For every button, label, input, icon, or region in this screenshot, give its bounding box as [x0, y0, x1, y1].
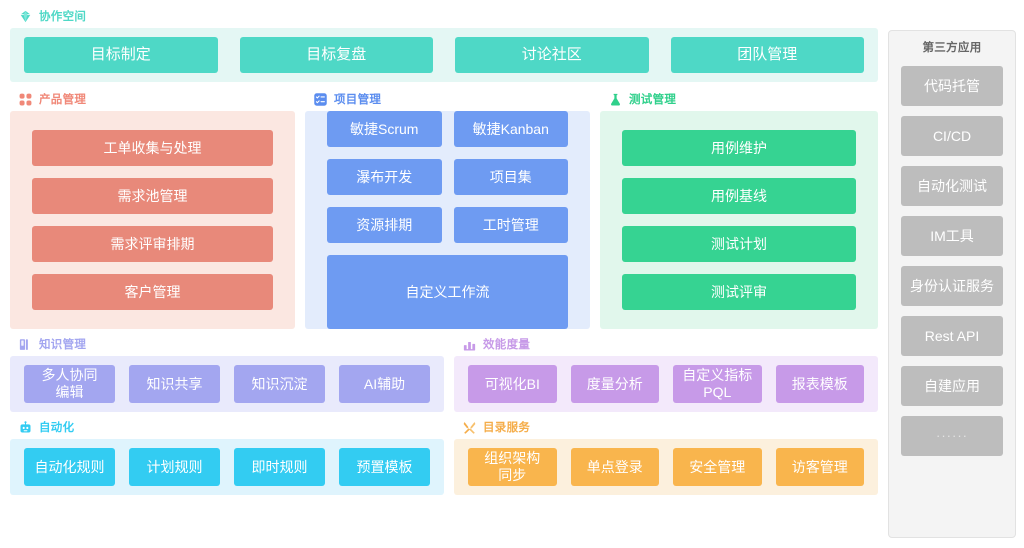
section-header-test: 测试管理	[600, 89, 878, 109]
checklist-icon	[313, 92, 328, 107]
section-collaboration: 协作空间 目标制定 目标复盘 讨论社区 团队管理	[10, 6, 878, 82]
tile-directory-1[interactable]: 单点登录	[571, 448, 660, 486]
project-row-2: 资源排期 工时管理	[327, 207, 568, 243]
section-header-knowledge: 知识管理	[10, 334, 444, 354]
tile-knowledge-3[interactable]: AI辅助	[339, 365, 430, 403]
tile-test-2[interactable]: 测试计划	[622, 226, 856, 262]
project-row-0: 敏捷Scrum 敏捷Kanban	[327, 111, 568, 147]
section-automation: 自动化 自动化规则 计划规则 即时规则 预置模板	[10, 417, 444, 495]
section-header-directory: 目录服务	[454, 417, 878, 437]
tile-automation-3[interactable]: 预置模板	[339, 448, 430, 486]
metrics-panel: 可视化BI 度量分析 自定义指标 PQL 报表模板	[454, 356, 878, 412]
middle-row: 产品管理 工单收集与处理 需求池管理 需求评审排期 客户管理	[10, 89, 878, 329]
tools-icon	[462, 420, 477, 435]
bottom-row-1: 知识管理 多人协同 编辑 知识共享 知识沉淀 AI辅助	[10, 334, 878, 412]
section-title: 项目管理	[334, 91, 381, 107]
section-title: 知识管理	[39, 336, 86, 352]
tile-test-1[interactable]: 用例基线	[622, 178, 856, 214]
project-row-1: 瀑布开发 项目集	[327, 159, 568, 195]
product-panel: 工单收集与处理 需求池管理 需求评审排期 客户管理	[10, 111, 295, 329]
tile-collaboration-0[interactable]: 目标制定	[24, 37, 218, 73]
tile-project-0-1[interactable]: 敏捷Kanban	[454, 111, 569, 147]
section-title: 目录服务	[483, 419, 530, 435]
sidebar-item-custom-apps[interactable]: 自建应用	[901, 366, 1003, 406]
tile-project-0-0[interactable]: 敏捷Scrum	[327, 111, 442, 147]
section-header-project: 项目管理	[305, 89, 590, 109]
section-metrics: 效能度量 可视化BI 度量分析 自定义指标 PQL 报表模板	[454, 334, 878, 412]
tile-test-3[interactable]: 测试评审	[622, 274, 856, 310]
tile-collaboration-1[interactable]: 目标复盘	[240, 37, 434, 73]
bottom-row-2: 自动化 自动化规则 计划规则 即时规则 预置模板	[10, 417, 878, 495]
section-title: 效能度量	[483, 336, 530, 352]
tile-project-1-1[interactable]: 项目集	[454, 159, 569, 195]
section-title: 测试管理	[629, 91, 676, 107]
bar-chart-icon	[462, 337, 477, 352]
tile-test-0[interactable]: 用例维护	[622, 130, 856, 166]
clover-icon	[18, 92, 33, 107]
tile-collaboration-2[interactable]: 讨论社区	[455, 37, 649, 73]
tile-metrics-1[interactable]: 度量分析	[571, 365, 660, 403]
section-header-product: 产品管理	[10, 89, 295, 109]
flask-icon	[608, 92, 623, 107]
section-directory: 目录服务 组织架构 同步 单点登录 安全管理 访客管理	[454, 417, 878, 495]
tile-automation-1[interactable]: 计划规则	[129, 448, 220, 486]
tile-automation-2[interactable]: 即时规则	[234, 448, 325, 486]
section-product: 产品管理 工单收集与处理 需求池管理 需求评审排期 客户管理	[10, 89, 295, 329]
test-panel: 用例维护 用例基线 测试计划 测试评审	[600, 111, 878, 329]
tile-knowledge-0[interactable]: 多人协同 编辑	[24, 365, 115, 403]
robot-icon	[18, 420, 33, 435]
main-column: 协作空间 目标制定 目标复盘 讨论社区 团队管理	[10, 6, 878, 542]
tile-metrics-3[interactable]: 报表模板	[776, 365, 865, 403]
section-test: 测试管理 用例维护 用例基线 测试计划 测试评审	[600, 89, 878, 329]
tile-knowledge-1[interactable]: 知识共享	[129, 365, 220, 403]
book-icon	[18, 337, 33, 352]
tile-project-custom-workflow[interactable]: 自定义工作流	[327, 255, 568, 329]
third-party-apps-sidebar: 第三方应用 代码托管 CI/CD 自动化测试 IM工具 身份认证服务 Rest …	[888, 30, 1016, 538]
tile-directory-3[interactable]: 访客管理	[776, 448, 865, 486]
tile-product-3[interactable]: 客户管理	[32, 274, 273, 310]
section-title: 产品管理	[39, 91, 86, 107]
sidebar-item-rest-api[interactable]: Rest API	[901, 316, 1003, 356]
tile-directory-0[interactable]: 组织架构 同步	[468, 448, 557, 486]
sidebar-item-more[interactable]: ······	[901, 416, 1003, 456]
tile-project-1-0[interactable]: 瀑布开发	[327, 159, 442, 195]
sidebar-title: 第三方应用	[923, 39, 982, 55]
sidebar-item-automated-testing[interactable]: 自动化测试	[901, 166, 1003, 206]
automation-panel: 自动化规则 计划规则 即时规则 预置模板	[10, 439, 444, 495]
platform-capability-map: 协作空间 目标制定 目标复盘 讨论社区 团队管理	[0, 0, 1024, 548]
project-panel: 敏捷Scrum 敏捷Kanban 瀑布开发 项目集 资源排期 工时管理 自定义工…	[305, 111, 590, 329]
section-header-collaboration: 协作空间	[10, 6, 878, 26]
section-knowledge: 知识管理 多人协同 编辑 知识共享 知识沉淀 AI辅助	[10, 334, 444, 412]
directory-panel: 组织架构 同步 单点登录 安全管理 访客管理	[454, 439, 878, 495]
tile-project-2-0[interactable]: 资源排期	[327, 207, 442, 243]
gem-icon	[18, 9, 33, 24]
sidebar-item-identity-auth[interactable]: 身份认证服务	[901, 266, 1003, 306]
tile-knowledge-2[interactable]: 知识沉淀	[234, 365, 325, 403]
tile-metrics-2[interactable]: 自定义指标 PQL	[673, 365, 762, 403]
sidebar-item-code-hosting[interactable]: 代码托管	[901, 66, 1003, 106]
tile-metrics-0[interactable]: 可视化BI	[468, 365, 557, 403]
section-header-automation: 自动化	[10, 417, 444, 437]
section-title: 自动化	[39, 419, 74, 435]
section-title: 协作空间	[39, 8, 86, 24]
knowledge-panel: 多人协同 编辑 知识共享 知识沉淀 AI辅助	[10, 356, 444, 412]
tile-collaboration-3[interactable]: 团队管理	[671, 37, 865, 73]
section-project: 项目管理 敏捷Scrum 敏捷Kanban 瀑布开发 项目集 资源排期 工时管理	[305, 89, 590, 329]
tile-product-0[interactable]: 工单收集与处理	[32, 130, 273, 166]
sidebar-item-im-tools[interactable]: IM工具	[901, 216, 1003, 256]
sidebar-item-ci-cd[interactable]: CI/CD	[901, 116, 1003, 156]
tile-product-1[interactable]: 需求池管理	[32, 178, 273, 214]
section-header-metrics: 效能度量	[454, 334, 878, 354]
tile-directory-2[interactable]: 安全管理	[673, 448, 762, 486]
tile-project-2-1[interactable]: 工时管理	[454, 207, 569, 243]
tile-product-2[interactable]: 需求评审排期	[32, 226, 273, 262]
tile-automation-0[interactable]: 自动化规则	[24, 448, 115, 486]
collaboration-panel: 目标制定 目标复盘 讨论社区 团队管理	[10, 28, 878, 82]
